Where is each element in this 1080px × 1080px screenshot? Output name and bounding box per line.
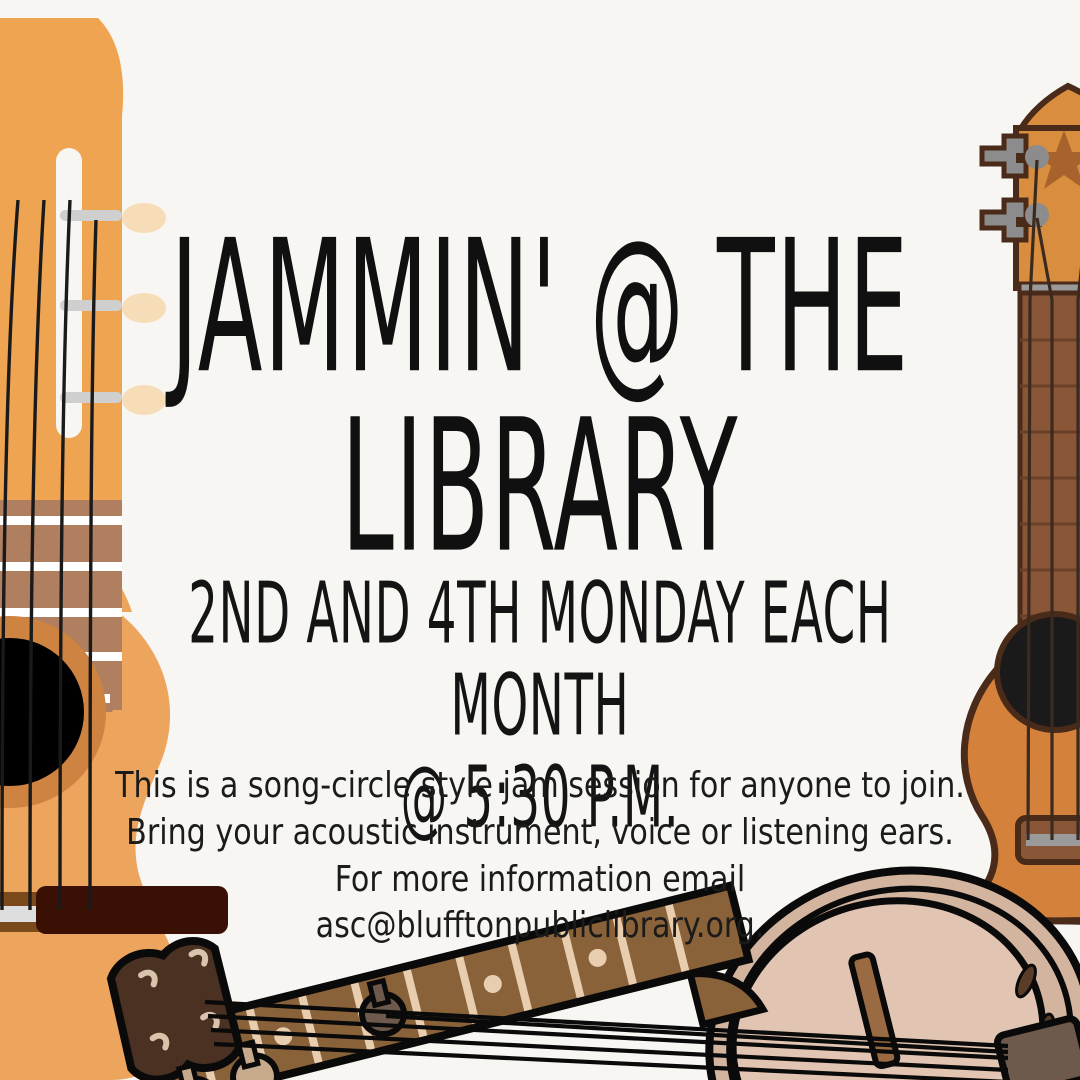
- page-title: JAMMIN' @ THE LIBRARY: [162, 219, 918, 578]
- description-text: This is a song-circle style jam session …: [38, 763, 1042, 950]
- poster-canvas: JAMMIN' @ THE LIBRARY 2ND AND 4TH MONDAY…: [0, 0, 1080, 1080]
- text-layer: JAMMIN' @ THE LIBRARY 2ND AND 4TH MONDAY…: [0, 0, 1080, 1080]
